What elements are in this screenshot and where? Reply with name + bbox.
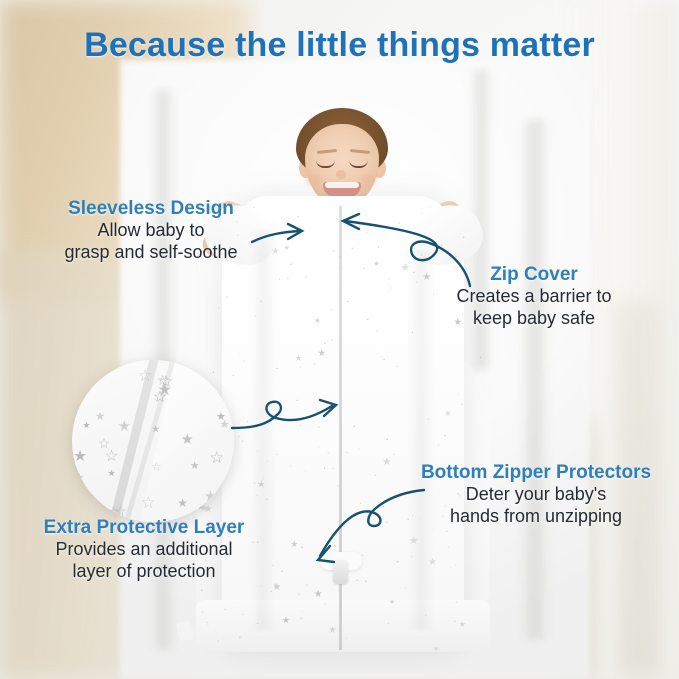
infographic-canvas: ••••••••★••••★••••••••••••••••••••••★•••… xyxy=(0,0,679,679)
star-dot: • xyxy=(318,446,319,449)
star-dot: • xyxy=(332,467,334,471)
star-dot: • xyxy=(351,247,353,253)
star-dot: • xyxy=(297,216,299,222)
star-dot: • xyxy=(411,555,413,559)
star-dot: • xyxy=(388,622,389,626)
star-dot: • xyxy=(247,421,249,426)
star-dot: • xyxy=(317,324,318,327)
star-dot: • xyxy=(405,587,407,591)
star-dot: • xyxy=(242,440,244,445)
star-dot: • xyxy=(398,229,399,233)
star-dot: • xyxy=(233,601,234,604)
star-dot: • xyxy=(224,608,226,613)
star-dot: • xyxy=(256,494,258,498)
star-dot: • xyxy=(366,232,368,237)
callout-extra-layer-heading: Extra Protective Layer xyxy=(8,517,280,539)
star-dot: • xyxy=(446,530,448,535)
star-dot: • xyxy=(457,392,458,396)
star-dot: • xyxy=(305,276,307,282)
star-dot: • xyxy=(463,236,465,242)
star-dot: • xyxy=(242,613,243,617)
star-dot: • xyxy=(300,366,301,369)
callout-extra-protective-layer: Extra Protective Layer Provides an addit… xyxy=(8,517,280,583)
star-dot: • xyxy=(346,451,348,455)
star-dot: ★ xyxy=(282,616,290,625)
star-dot: ★ xyxy=(428,557,438,568)
star-dot: • xyxy=(454,620,456,625)
star-dot: • xyxy=(383,505,385,510)
star-dot: • xyxy=(266,498,268,502)
star-dot: • xyxy=(298,592,299,596)
star-dot: • xyxy=(412,331,414,335)
star-dot: • xyxy=(339,255,340,259)
child-teeth xyxy=(325,182,359,188)
star-dot: ★ xyxy=(328,626,337,636)
star-dot: • xyxy=(331,339,333,345)
star-dot: • xyxy=(393,453,395,458)
inset-star: ★ xyxy=(74,473,84,484)
star-dot: • xyxy=(346,637,347,641)
inset-star: ★ xyxy=(190,461,200,472)
callout-extra-layer-body-line-2: layer of protection xyxy=(8,561,280,583)
brand-tag xyxy=(177,621,194,641)
star-dot: • xyxy=(386,521,388,527)
star-dot: • xyxy=(362,554,363,558)
star-dot: • xyxy=(376,330,377,334)
star-dot: • xyxy=(354,426,356,431)
inset-star: ☆ xyxy=(141,495,156,511)
star-dot: • xyxy=(215,631,216,635)
star-dot: • xyxy=(365,580,367,585)
star-dot: • xyxy=(338,589,340,595)
star-dot: • xyxy=(281,570,283,576)
star-dot: • xyxy=(267,460,268,463)
star-dot: • xyxy=(397,365,399,369)
child-nose xyxy=(336,170,346,179)
star-dot: • xyxy=(430,206,431,209)
star-dot: • xyxy=(337,484,338,488)
star-dot: ★ xyxy=(373,260,380,268)
callout-sleeveless-body-line-2: grasp and self-soothe xyxy=(20,242,282,264)
inset-star: ☆ xyxy=(104,448,119,464)
star-dot: • xyxy=(217,639,218,643)
star-dot: • xyxy=(257,622,259,627)
child-cheek-left xyxy=(306,174,322,185)
star-dot: • xyxy=(276,453,278,458)
star-dot: • xyxy=(239,353,240,356)
star-dot: • xyxy=(461,404,463,409)
star-dot: • xyxy=(202,611,204,617)
star-dot: • xyxy=(293,229,295,234)
star-dot: • xyxy=(239,636,241,641)
star-dot: • xyxy=(391,287,392,291)
star-dot: • xyxy=(207,623,208,627)
star-dot: • xyxy=(438,444,439,448)
star-dot: • xyxy=(399,222,401,227)
inset-star: ★ xyxy=(152,424,160,433)
star-dot: • xyxy=(300,617,302,622)
child-cheek-right xyxy=(361,174,377,185)
star-dot: • xyxy=(455,564,456,567)
star-dot: • xyxy=(254,482,256,487)
page-title: Because the little things matter xyxy=(0,26,679,65)
inset-star: ★ xyxy=(181,433,194,448)
star-dot: • xyxy=(363,267,365,272)
star-dot: • xyxy=(334,544,336,549)
star-dot: ★ xyxy=(433,645,440,652)
star-dot: ★ xyxy=(409,536,419,547)
inset-star: ★ xyxy=(117,420,130,435)
star-dot: • xyxy=(358,447,359,451)
callout-sleeveless-body-line-1: Allow baby to xyxy=(20,220,282,242)
star-dot: • xyxy=(388,278,389,281)
callout-zip-cover-body-line-2: keep baby safe xyxy=(404,308,664,330)
star-dot: • xyxy=(450,566,451,569)
callout-zip-cover-body-line-1: Creates a barrier to xyxy=(404,286,664,308)
callout-bottom-zipper-body-line-2: hands from unzipping xyxy=(400,506,672,528)
star-dot: • xyxy=(433,529,434,533)
star-dot: • xyxy=(441,244,443,250)
star-dot: • xyxy=(367,318,369,324)
star-dot: • xyxy=(428,418,430,424)
fabric-detail-inset: ☆★☆★★★★★☆★★☆☆★★☆☆☆★★☆★☆★★☆ xyxy=(72,360,234,522)
star-dot: ★ xyxy=(382,457,391,468)
star-dot: • xyxy=(226,296,228,302)
star-dot: ★ xyxy=(272,583,281,593)
callout-bottom-zipper-body-line-1: Deter your baby's xyxy=(400,484,672,506)
star-dot: ★ xyxy=(389,599,395,606)
star-dot: ★ xyxy=(290,540,298,549)
callout-bottom-zipper-heading: Bottom Zipper Protectors xyxy=(400,462,672,484)
star-dot: • xyxy=(218,306,219,310)
star-dot: • xyxy=(421,253,422,257)
star-dot: • xyxy=(359,210,360,214)
star-dot: • xyxy=(324,602,325,606)
inset-star: ☆ xyxy=(138,368,153,384)
star-dot: • xyxy=(327,451,328,455)
star-dot: • xyxy=(338,266,339,270)
star-dot: • xyxy=(260,585,261,588)
star-dot: • xyxy=(331,309,332,312)
star-dot: • xyxy=(305,469,306,473)
callout-sleeveless-heading: Sleeveless Design xyxy=(20,198,282,220)
inset-star: ★ xyxy=(177,497,188,509)
star-dot: • xyxy=(324,342,326,347)
star-dot: • xyxy=(301,610,302,614)
star-dot: • xyxy=(397,561,399,567)
star-dot: • xyxy=(374,474,376,480)
inset-star: ★ xyxy=(219,419,229,431)
star-dot: • xyxy=(356,579,358,585)
star-dot: • xyxy=(444,435,446,441)
inset-star: ☆ xyxy=(156,374,169,389)
star-dot: • xyxy=(347,300,349,305)
star-dot: • xyxy=(383,358,385,362)
star-dot: • xyxy=(287,277,289,281)
star-dot: ★ xyxy=(257,480,265,489)
callout-bottom-zipper-protectors: Bottom Zipper Protectors Deter your baby… xyxy=(400,462,672,528)
star-dot: ★ xyxy=(318,349,326,358)
star-dot: • xyxy=(378,246,379,250)
star-dot: ★ xyxy=(458,620,465,628)
star-dot: • xyxy=(301,546,303,552)
star-dot: • xyxy=(425,614,427,619)
inset-star: ★ xyxy=(214,501,228,516)
child-mouth xyxy=(323,182,361,197)
star-dot: • xyxy=(455,255,456,259)
star-dot: • xyxy=(324,467,325,471)
star-dot: • xyxy=(334,250,335,254)
star-dot: • xyxy=(201,589,202,593)
callout-sleeveless-design: Sleeveless Design Allow baby to grasp an… xyxy=(20,198,282,264)
star-dot: • xyxy=(306,583,307,587)
star-dot: • xyxy=(257,450,258,453)
star-dot: ★ xyxy=(314,590,323,600)
star-dot: • xyxy=(300,424,302,429)
star-dot: • xyxy=(243,360,244,364)
star-dot: • xyxy=(296,399,298,404)
star-dot: • xyxy=(456,601,457,604)
callout-zip-cover: Zip Cover Creates a barrier to keep baby… xyxy=(404,264,664,330)
star-dot: ★ xyxy=(283,244,290,251)
star-dot: • xyxy=(290,263,292,269)
star-dot: • xyxy=(386,438,388,444)
callout-extra-layer-body-line-1: Provides an additional xyxy=(8,539,280,561)
star-dot: • xyxy=(279,277,280,281)
inset-star: ★ xyxy=(107,469,115,478)
star-dot: • xyxy=(318,426,320,431)
callout-zip-cover-heading: Zip Cover xyxy=(404,264,664,286)
star-dot: • xyxy=(360,503,362,508)
inset-star: ☆ xyxy=(151,461,162,473)
inset-star: ★ xyxy=(73,449,87,464)
star-dot: • xyxy=(287,222,288,225)
star-dot: • xyxy=(448,546,449,550)
star-dot: • xyxy=(421,212,423,216)
star-dot: • xyxy=(260,300,261,304)
star-dot: ★ xyxy=(295,354,303,363)
star-dot: ★ xyxy=(444,409,452,417)
star-dot: • xyxy=(255,315,256,318)
inset-star: ★ xyxy=(82,421,90,430)
inset-star: ★ xyxy=(95,412,105,424)
star-dot: • xyxy=(314,363,316,369)
star-dot: • xyxy=(480,356,482,361)
star-dot: • xyxy=(290,465,291,468)
star-dot: • xyxy=(238,435,240,441)
inset-star: ☆ xyxy=(209,450,224,467)
star-dot: • xyxy=(276,368,278,373)
inset-star: ☆ xyxy=(153,389,168,405)
